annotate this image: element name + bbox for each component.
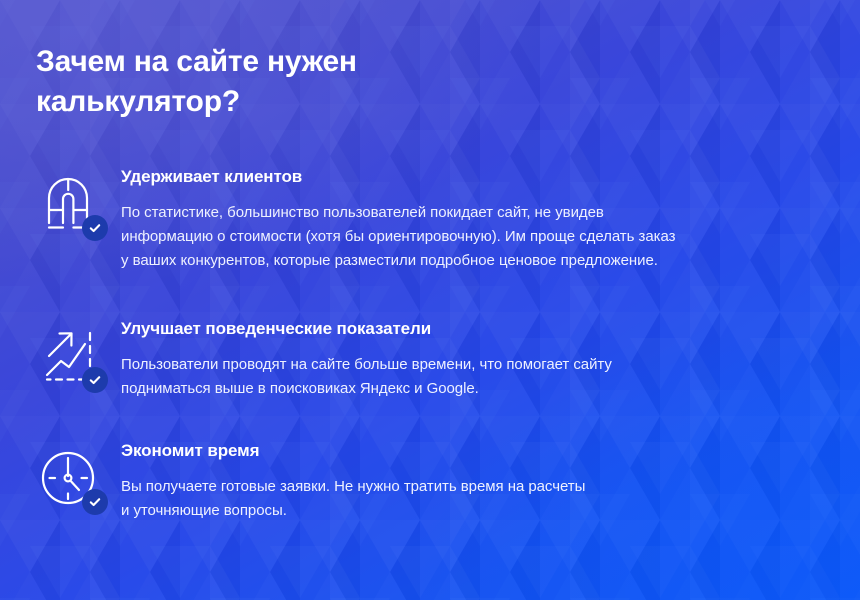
feature-heading: Удерживает клиентов [121,166,821,188]
feature-icon-growth-chart [38,320,108,390]
feature-heading: Экономит время [121,440,821,462]
feature-body: По статистике, большинство пользователей… [121,201,821,273]
feature-icon-clock [38,442,108,512]
feature-body-line: подниматься выше в поисковиках Яндекс и … [121,377,821,401]
feature-body-line: и уточняющие вопросы. [121,499,821,523]
page-title: Зачем на сайте нужен калькулятор? [36,42,556,122]
feature-body-line: информацию о стоимости (хотя бы ориентир… [121,225,821,249]
check-icon [88,221,102,235]
feature-body-line: Пользователи проводят на сайте больше вр… [121,353,821,377]
feature-body: Вы получаете готовые заявки. Не нужно тр… [121,475,821,523]
feature-heading: Улучшает поведенческие показатели [121,318,821,340]
feature-body-line: Вы получаете готовые заявки. Не нужно тр… [121,475,821,499]
feature-body-line: По статистике, большинство пользователей… [121,201,821,225]
slide-root: Зачем на сайте нужен калькулятор? [0,0,860,600]
feature-icon-magnet [38,168,108,238]
feature-text: Улучшает поведенческие показатели Пользо… [121,318,821,401]
feature-body-line: у ваших конкурентов, которые разместили … [121,249,821,273]
check-icon [88,495,102,509]
feature-text: Экономит время Вы получаете готовые заяв… [121,440,821,523]
feature-text: Удерживает клиентов По статистике, больш… [121,166,821,273]
feature-body: Пользователи проводят на сайте больше вр… [121,353,821,401]
check-badge [82,215,108,241]
check-icon [88,373,102,387]
check-badge [82,489,108,515]
slide-content: Зачем на сайте нужен калькулятор? [0,0,860,600]
check-badge [82,367,108,393]
